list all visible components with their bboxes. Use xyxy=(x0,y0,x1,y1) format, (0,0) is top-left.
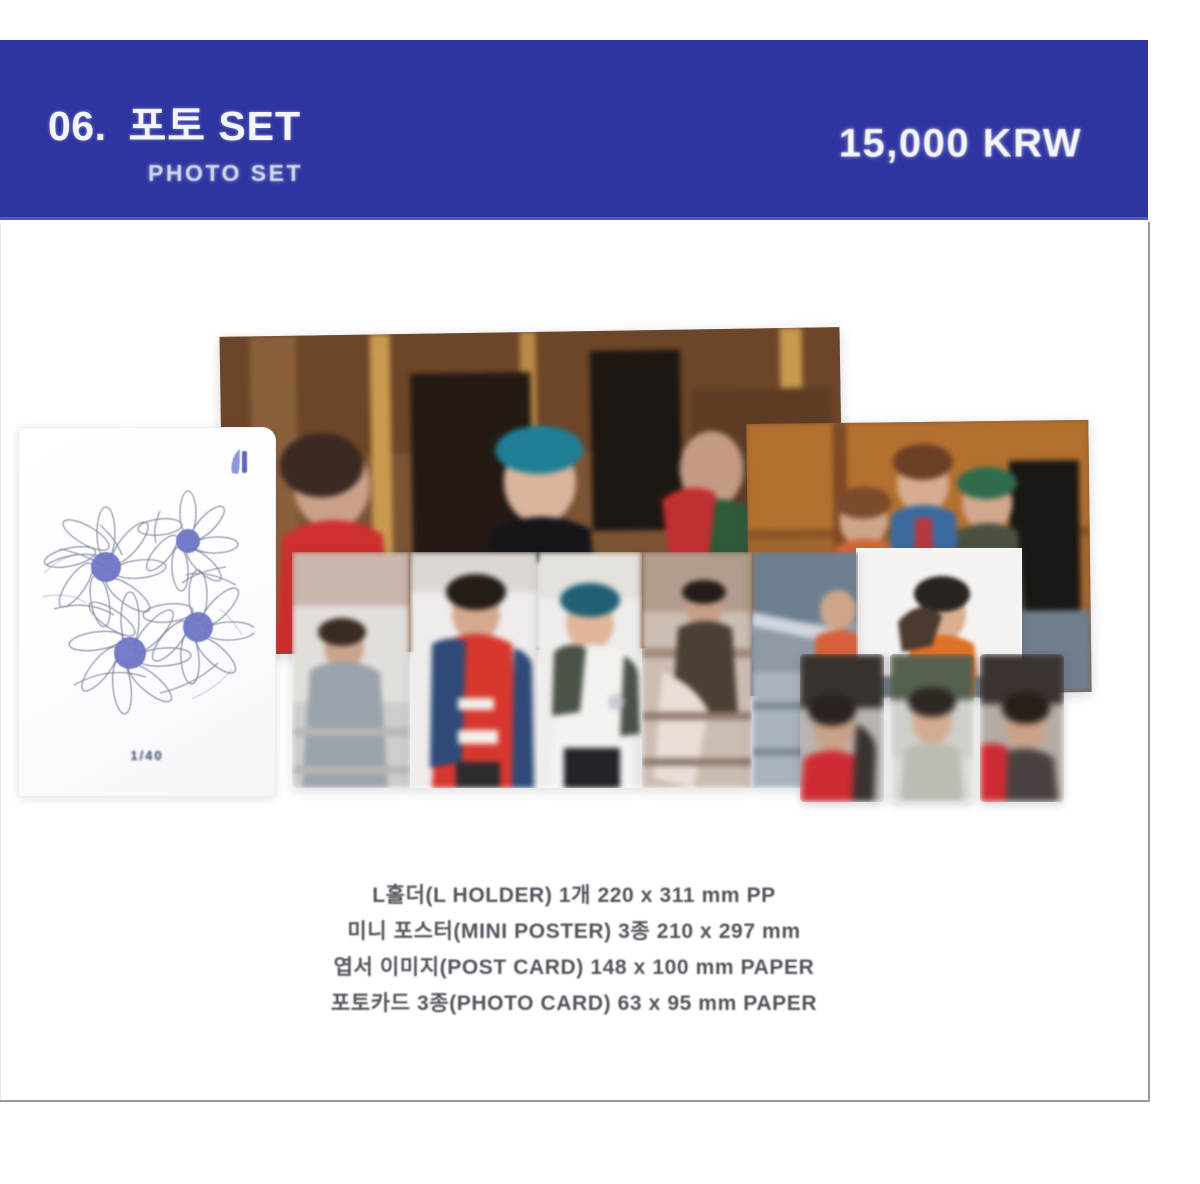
section-title-ko: 포토 SET xyxy=(129,92,302,152)
post-card-4-photo xyxy=(642,552,752,788)
post-card-3-photo xyxy=(538,552,642,788)
post-card-1 xyxy=(292,552,410,788)
l-holder: 1/40 xyxy=(18,427,276,797)
title-row: 06. 포토 SET xyxy=(48,92,303,152)
section-number: 06. xyxy=(48,103,107,150)
photo-card-1 xyxy=(800,654,884,802)
brand-logo-icon xyxy=(228,447,252,477)
post-card-4 xyxy=(642,552,752,788)
post-card-3 xyxy=(538,552,642,788)
photo-card-3-photo xyxy=(980,654,1064,802)
spec-text-block: L홀더(L HOLDER) 1개 220 x 311 mm PP 미니 포스터(… xyxy=(0,878,1148,1022)
spec-line-mini-poster: 미니 포스터(MINI POSTER) 3종 210 x 297 mm xyxy=(0,914,1148,950)
section-subtitle-en: PHOTO SET xyxy=(148,160,303,187)
post-card-2-photo xyxy=(410,552,538,788)
flower-line-art xyxy=(40,489,254,719)
spec-line-photo-card: 포토카드 3종(PHOTO CARD) 63 x 95 mm PAPER xyxy=(0,986,1148,1022)
photo-card-1-photo xyxy=(800,654,884,802)
product-detail-page: 06. 포토 SET PHOTO SET 15,000 KRW xyxy=(0,0,1200,1184)
post-card-1-photo xyxy=(292,552,410,788)
post-card-2 xyxy=(410,552,538,788)
spec-line-l-holder: L홀더(L HOLDER) 1개 220 x 311 mm PP xyxy=(0,878,1148,914)
page-border-right xyxy=(1148,222,1150,1102)
page-border-bottom xyxy=(0,1100,1150,1102)
l-holder-footer-mark: 1/40 xyxy=(18,748,276,763)
price-label: 15,000 KRW xyxy=(839,122,1082,167)
photo-card-2 xyxy=(890,654,974,802)
photo-card-2-photo xyxy=(890,654,974,802)
section-header-band: 06. 포토 SET PHOTO SET 15,000 KRW xyxy=(0,40,1148,220)
title-block: 06. 포토 SET PHOTO SET xyxy=(48,92,303,187)
spec-line-post-card: 엽서 이미지(POST CARD) 148 x 100 mm PAPER xyxy=(0,950,1148,986)
product-image-area: 1/40 xyxy=(0,222,1148,862)
photo-card-3 xyxy=(980,654,1064,802)
